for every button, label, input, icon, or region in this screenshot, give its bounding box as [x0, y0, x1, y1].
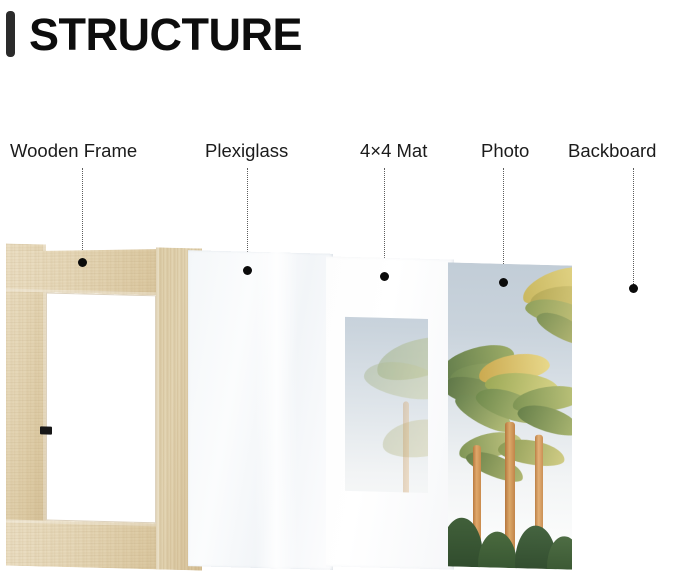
- label-mat: 4×4 Mat: [360, 142, 427, 161]
- title-accent-bar: [6, 11, 15, 57]
- layer-wooden-frame: [6, 244, 202, 571]
- page-title: STRUCTURE: [0, 6, 302, 62]
- layer-plexiglass: [188, 250, 333, 570]
- frame-hardware-tab: [40, 426, 52, 434]
- marker-dot-photo: [499, 278, 508, 287]
- plexiglass-sheen: [255, 252, 299, 569]
- marker-dot-plexiglass: [243, 266, 252, 275]
- layer-mat: [326, 256, 454, 569]
- structure-diagram-page: STRUCTURE Wooden Frame Plexiglass 4×4 Ma…: [0, 0, 679, 574]
- label-wooden-frame: Wooden Frame: [10, 142, 137, 161]
- marker-dot-wooden-frame: [78, 258, 87, 267]
- layer-photo: [448, 262, 572, 569]
- marker-dot-mat: [380, 272, 389, 281]
- label-photo: Photo: [481, 142, 529, 161]
- label-backboard: Backboard: [568, 142, 656, 161]
- page-title-text: STRUCTURE: [29, 12, 302, 57]
- mat-window-cutout: [345, 317, 428, 493]
- mat-window-seen-photo: [345, 317, 428, 493]
- frame-opening: [46, 293, 156, 524]
- layer-backboard: [573, 269, 679, 570]
- marker-dot-backboard: [629, 284, 638, 293]
- label-plexiglass: Plexiglass: [205, 142, 288, 161]
- photo-artwork-palm-trees: [448, 262, 572, 569]
